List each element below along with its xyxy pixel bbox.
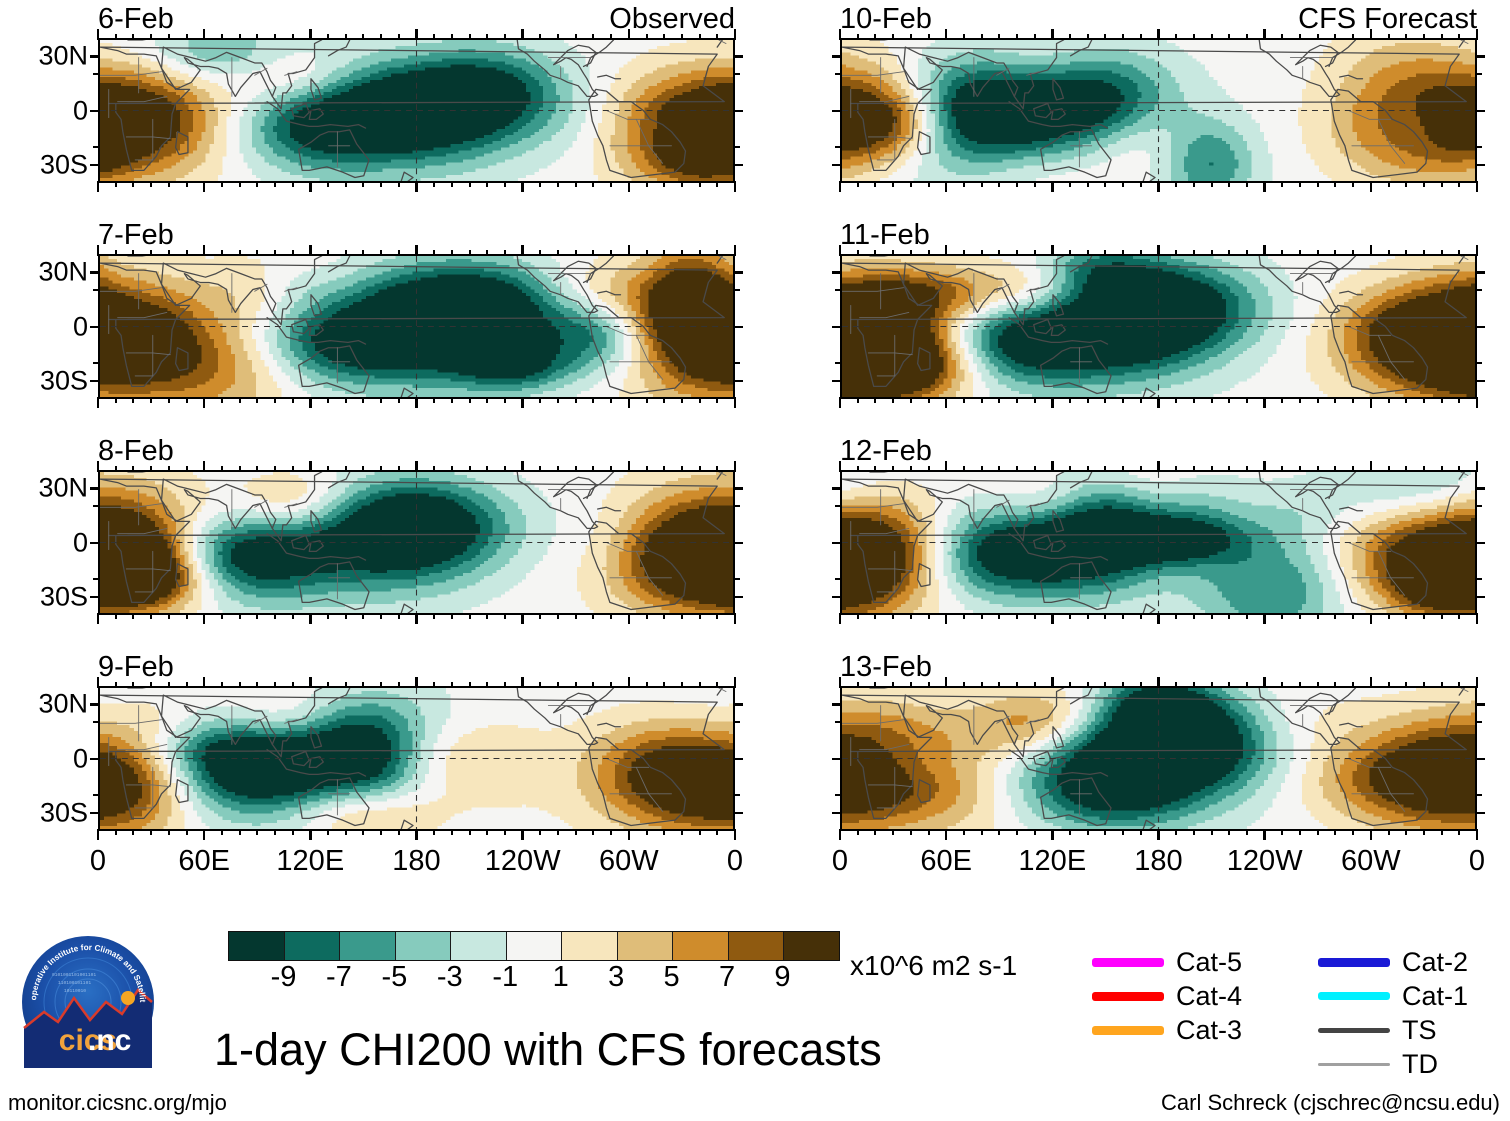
x-tick bbox=[716, 181, 718, 187]
x-tick bbox=[327, 466, 329, 472]
y-tick-minor bbox=[734, 73, 740, 75]
x-tick bbox=[256, 466, 258, 472]
y-tick bbox=[733, 703, 743, 706]
x-tick bbox=[874, 613, 876, 619]
x-tick bbox=[1281, 682, 1283, 688]
x-tick bbox=[362, 397, 364, 403]
x-tick bbox=[892, 613, 894, 619]
x-tick bbox=[945, 29, 948, 40]
x-tick bbox=[345, 829, 347, 835]
x-tick bbox=[97, 29, 100, 40]
legend-item-label: Cat-5 bbox=[1176, 948, 1242, 976]
x-tick bbox=[415, 613, 418, 624]
x-tick bbox=[1388, 250, 1390, 256]
map-panel: 11-Feb bbox=[840, 254, 1477, 399]
x-tick bbox=[1458, 829, 1460, 835]
x-tick bbox=[415, 245, 418, 256]
x-tick bbox=[132, 34, 134, 40]
y-tick-minor bbox=[93, 721, 99, 723]
x-tick bbox=[345, 397, 347, 403]
x-tick bbox=[362, 466, 364, 472]
x-tick bbox=[1476, 613, 1479, 624]
x-tick bbox=[1246, 34, 1248, 40]
x-tick bbox=[1370, 397, 1373, 408]
x-tick bbox=[150, 250, 152, 256]
x-tick bbox=[186, 613, 188, 619]
x-tick bbox=[1051, 461, 1054, 472]
x-tick bbox=[398, 181, 400, 187]
x-tick bbox=[433, 682, 435, 688]
y-tick-minor bbox=[93, 289, 99, 291]
x-tick bbox=[1476, 677, 1479, 688]
x-tick bbox=[1157, 29, 1160, 40]
x-tick bbox=[132, 250, 134, 256]
x-tick bbox=[150, 466, 152, 472]
x-tick bbox=[1281, 613, 1283, 619]
x-tick bbox=[892, 829, 894, 835]
x-tick bbox=[239, 397, 241, 403]
x-tick bbox=[1476, 181, 1479, 192]
colorbar-tick: 1 bbox=[553, 961, 569, 994]
legend-item-label: TD bbox=[1402, 1050, 1438, 1078]
x-tick bbox=[1281, 34, 1283, 40]
x-tick bbox=[469, 829, 471, 835]
x-tick bbox=[168, 613, 170, 619]
x-tick bbox=[1458, 250, 1460, 256]
x-tick bbox=[186, 181, 188, 187]
x-tick bbox=[186, 829, 188, 835]
y-tick bbox=[832, 326, 842, 329]
y-tick bbox=[1475, 758, 1485, 761]
x-tick bbox=[239, 181, 241, 187]
x-tick bbox=[168, 682, 170, 688]
x-tick bbox=[646, 181, 648, 187]
x-tick bbox=[486, 397, 488, 403]
x-tick bbox=[628, 461, 631, 472]
x-tick bbox=[1228, 181, 1230, 187]
x-tick bbox=[1175, 682, 1177, 688]
x-tick bbox=[521, 397, 524, 408]
x-tick bbox=[1175, 34, 1177, 40]
y-tick bbox=[90, 326, 100, 329]
x-tick bbox=[681, 250, 683, 256]
x-tick bbox=[1175, 250, 1177, 256]
x-tick bbox=[945, 613, 948, 624]
y-tick-minor bbox=[835, 578, 841, 580]
x-tick bbox=[362, 829, 364, 835]
x-tick bbox=[168, 397, 170, 403]
x-tick bbox=[292, 181, 294, 187]
x-tick bbox=[1016, 829, 1018, 835]
x-tick bbox=[681, 181, 683, 187]
x-tick bbox=[1405, 613, 1407, 619]
map-panel: 12-Feb bbox=[840, 470, 1477, 615]
x-tick bbox=[1299, 466, 1301, 472]
x-tick bbox=[910, 682, 912, 688]
x-tick bbox=[1317, 682, 1319, 688]
y-tick bbox=[733, 380, 743, 383]
x-tick bbox=[274, 181, 276, 187]
x-tick bbox=[981, 181, 983, 187]
x-tick bbox=[716, 682, 718, 688]
x-tick bbox=[486, 34, 488, 40]
x-tick bbox=[1317, 397, 1319, 403]
x-tick bbox=[1423, 250, 1425, 256]
x-tick bbox=[1281, 466, 1283, 472]
x-tick bbox=[1211, 613, 1213, 619]
y-tick-minor bbox=[734, 289, 740, 291]
x-tick bbox=[646, 613, 648, 619]
x-tick bbox=[1140, 829, 1142, 835]
y-tick bbox=[90, 542, 100, 545]
y-tick bbox=[1475, 380, 1485, 383]
x-tick bbox=[451, 397, 453, 403]
x-tick bbox=[521, 461, 524, 472]
x-tick bbox=[699, 250, 701, 256]
x-tick bbox=[1211, 34, 1213, 40]
x-tick bbox=[1104, 250, 1106, 256]
y-axis-label: 30S bbox=[40, 581, 88, 612]
x-tick bbox=[150, 682, 152, 688]
panel-date-label: 6-Feb bbox=[98, 4, 174, 34]
x-tick bbox=[1193, 34, 1195, 40]
legend-color-swatch bbox=[1092, 1026, 1164, 1035]
x-tick bbox=[716, 34, 718, 40]
x-tick bbox=[1388, 34, 1390, 40]
x-tick bbox=[504, 250, 506, 256]
x-tick bbox=[1104, 466, 1106, 472]
x-tick bbox=[239, 613, 241, 619]
x-tick bbox=[1352, 613, 1354, 619]
x-tick bbox=[1458, 682, 1460, 688]
x-tick bbox=[1193, 397, 1195, 403]
y-tick bbox=[1475, 703, 1485, 706]
panel-source-label: CFS Forecast bbox=[1298, 4, 1477, 34]
x-tick bbox=[1122, 829, 1124, 835]
x-tick bbox=[1157, 397, 1160, 408]
x-tick bbox=[1087, 829, 1089, 835]
colorbar-band bbox=[451, 932, 507, 960]
x-tick bbox=[292, 250, 294, 256]
x-tick bbox=[628, 397, 631, 408]
y-axis-label: 0 bbox=[73, 743, 88, 774]
colorbar-band bbox=[340, 932, 396, 960]
y-tick-minor bbox=[93, 362, 99, 364]
x-tick bbox=[521, 245, 524, 256]
x-tick bbox=[1069, 829, 1071, 835]
x-tick bbox=[892, 682, 894, 688]
x-tick bbox=[699, 397, 701, 403]
x-tick bbox=[998, 397, 1000, 403]
x-tick bbox=[734, 677, 737, 688]
x-tick bbox=[97, 397, 100, 408]
x-tick bbox=[469, 397, 471, 403]
x-tick bbox=[910, 466, 912, 472]
x-tick bbox=[1405, 397, 1407, 403]
x-tick bbox=[1458, 34, 1460, 40]
x-tick bbox=[839, 677, 842, 688]
x-tick bbox=[1175, 613, 1177, 619]
x-tick bbox=[1051, 829, 1054, 840]
x-tick bbox=[1246, 250, 1248, 256]
x-tick bbox=[327, 250, 329, 256]
x-tick bbox=[1175, 829, 1177, 835]
x-tick bbox=[1441, 397, 1443, 403]
x-tick bbox=[981, 250, 983, 256]
y-tick-minor bbox=[93, 73, 99, 75]
x-tick bbox=[150, 613, 152, 619]
x-tick bbox=[1122, 397, 1124, 403]
x-tick bbox=[186, 34, 188, 40]
x-tick bbox=[1122, 613, 1124, 619]
x-tick bbox=[910, 34, 912, 40]
x-tick bbox=[928, 682, 930, 688]
y-tick-minor bbox=[1476, 578, 1482, 580]
x-tick bbox=[1228, 34, 1230, 40]
x-tick bbox=[309, 181, 312, 192]
x-tick bbox=[1423, 34, 1425, 40]
legend-item-label: Cat-3 bbox=[1176, 1016, 1242, 1044]
y-tick bbox=[733, 812, 743, 815]
x-tick bbox=[874, 397, 876, 403]
x-tick bbox=[699, 682, 701, 688]
colorbar-band bbox=[673, 932, 729, 960]
x-tick bbox=[239, 250, 241, 256]
x-tick bbox=[1370, 829, 1373, 840]
x-tick bbox=[1034, 829, 1036, 835]
map-frame bbox=[840, 470, 1477, 615]
x-tick bbox=[132, 613, 134, 619]
x-tick bbox=[1104, 397, 1106, 403]
x-axis-left: 060E120E180120W60W0 bbox=[98, 845, 735, 885]
x-tick bbox=[1476, 29, 1479, 40]
panel-date-label: 9-Feb bbox=[98, 652, 174, 682]
x-tick bbox=[486, 613, 488, 619]
x-tick bbox=[1263, 829, 1266, 840]
x-tick bbox=[1104, 613, 1106, 619]
x-tick bbox=[1388, 682, 1390, 688]
colorbar-tick: -1 bbox=[492, 961, 518, 994]
x-tick bbox=[892, 34, 894, 40]
x-tick bbox=[203, 829, 206, 840]
y-tick bbox=[733, 596, 743, 599]
x-tick bbox=[274, 250, 276, 256]
x-tick bbox=[716, 466, 718, 472]
x-tick bbox=[451, 466, 453, 472]
x-tick bbox=[274, 682, 276, 688]
colorbar-band bbox=[507, 932, 563, 960]
x-tick bbox=[1175, 466, 1177, 472]
x-tick bbox=[132, 397, 134, 403]
colorbar: -9-7-5-3-113579 bbox=[228, 931, 840, 961]
x-tick bbox=[1317, 466, 1319, 472]
x-tick bbox=[1016, 181, 1018, 187]
x-tick bbox=[1263, 29, 1266, 40]
x-tick bbox=[1263, 613, 1266, 624]
x-tick bbox=[681, 466, 683, 472]
legend-color-swatch bbox=[1318, 992, 1390, 1000]
x-tick bbox=[433, 250, 435, 256]
x-tick bbox=[203, 29, 206, 40]
x-tick bbox=[1034, 181, 1036, 187]
x-tick bbox=[663, 250, 665, 256]
monitor-url[interactable]: monitor.cicsnc.org/mjo bbox=[8, 1090, 227, 1116]
x-tick bbox=[998, 466, 1000, 472]
x-tick bbox=[1051, 397, 1054, 408]
x-tick bbox=[115, 613, 117, 619]
x-tick bbox=[1228, 682, 1230, 688]
x-tick bbox=[1193, 682, 1195, 688]
x-tick bbox=[628, 245, 631, 256]
x-tick bbox=[874, 466, 876, 472]
x-tick bbox=[892, 466, 894, 472]
panel-date-label: 10-Feb bbox=[840, 4, 932, 34]
x-tick bbox=[486, 829, 488, 835]
y-tick bbox=[90, 164, 100, 167]
x-tick bbox=[451, 181, 453, 187]
y-tick bbox=[733, 542, 743, 545]
x-tick bbox=[874, 250, 876, 256]
x-tick bbox=[486, 466, 488, 472]
x-tick bbox=[486, 682, 488, 688]
x-tick bbox=[963, 181, 965, 187]
legend-item-label: Cat-1 bbox=[1402, 982, 1468, 1010]
x-tick bbox=[1016, 466, 1018, 472]
x-tick bbox=[734, 613, 737, 624]
x-tick bbox=[716, 397, 718, 403]
x-tick bbox=[963, 613, 965, 619]
x-tick bbox=[839, 461, 842, 472]
x-tick bbox=[839, 29, 842, 40]
x-tick bbox=[1388, 829, 1390, 835]
x-tick bbox=[1370, 245, 1373, 256]
x-tick bbox=[928, 397, 930, 403]
x-tick bbox=[1299, 250, 1301, 256]
x-tick bbox=[1423, 397, 1425, 403]
panel-date-label: 13-Feb bbox=[840, 652, 932, 682]
x-tick bbox=[539, 181, 541, 187]
x-tick bbox=[910, 829, 912, 835]
x-tick bbox=[1423, 181, 1425, 187]
x-tick bbox=[469, 181, 471, 187]
x-tick bbox=[521, 613, 524, 624]
y-tick-minor bbox=[1476, 505, 1482, 507]
x-tick bbox=[433, 181, 435, 187]
x-tick bbox=[380, 34, 382, 40]
y-tick bbox=[832, 542, 842, 545]
y-axis-label: 30S bbox=[40, 149, 88, 180]
x-tick bbox=[1388, 181, 1390, 187]
x-tick bbox=[521, 677, 524, 688]
x-tick bbox=[1211, 397, 1213, 403]
cics-nc-logo: 0101001101001101 110100101101 10110010 c… bbox=[18, 932, 158, 1072]
x-tick bbox=[839, 829, 842, 840]
x-tick bbox=[928, 829, 930, 835]
x-tick bbox=[203, 181, 206, 192]
x-tick bbox=[963, 829, 965, 835]
map-frame bbox=[98, 470, 735, 615]
x-tick bbox=[663, 34, 665, 40]
x-tick bbox=[1281, 829, 1283, 835]
x-tick bbox=[469, 682, 471, 688]
x-tick bbox=[415, 461, 418, 472]
x-tick bbox=[1299, 181, 1301, 187]
x-tick bbox=[716, 250, 718, 256]
x-tick bbox=[557, 250, 559, 256]
x-tick bbox=[115, 34, 117, 40]
x-tick bbox=[380, 613, 382, 619]
map-panel: 8-Feb30N030S bbox=[98, 470, 735, 615]
x-tick bbox=[1281, 181, 1283, 187]
x-tick bbox=[874, 181, 876, 187]
x-tick bbox=[1087, 250, 1089, 256]
y-tick-minor bbox=[734, 505, 740, 507]
y-axis-label: 30S bbox=[40, 365, 88, 396]
x-tick bbox=[274, 613, 276, 619]
x-tick bbox=[646, 250, 648, 256]
x-tick bbox=[203, 397, 206, 408]
x-tick bbox=[1370, 181, 1373, 192]
colorbar-units-label: x10^6 m2 s-1 bbox=[850, 950, 1017, 982]
y-tick bbox=[1475, 487, 1485, 490]
x-tick bbox=[186, 397, 188, 403]
x-tick bbox=[592, 466, 594, 472]
x-tick bbox=[97, 461, 100, 472]
y-tick-minor bbox=[835, 794, 841, 796]
x-tick bbox=[681, 34, 683, 40]
y-tick bbox=[1475, 164, 1485, 167]
x-tick bbox=[857, 613, 859, 619]
x-tick bbox=[1104, 682, 1106, 688]
x-tick bbox=[239, 34, 241, 40]
x-tick bbox=[415, 181, 418, 192]
x-tick bbox=[1263, 397, 1266, 408]
x-tick bbox=[1051, 29, 1054, 40]
y-tick bbox=[1475, 812, 1485, 815]
x-tick bbox=[115, 181, 117, 187]
x-axis-label: 0 bbox=[832, 845, 848, 878]
panel-date-label: 8-Feb bbox=[98, 436, 174, 466]
x-tick bbox=[309, 245, 312, 256]
y-axis-label: 30N bbox=[38, 689, 88, 720]
x-axis-label: 120W bbox=[485, 845, 561, 878]
x-tick bbox=[274, 34, 276, 40]
x-tick bbox=[1317, 613, 1319, 619]
x-tick bbox=[1211, 466, 1213, 472]
x-tick bbox=[327, 34, 329, 40]
y-tick bbox=[832, 487, 842, 490]
x-tick bbox=[1228, 466, 1230, 472]
y-axis-label: 30S bbox=[40, 797, 88, 828]
x-tick bbox=[610, 613, 612, 619]
x-tick bbox=[398, 34, 400, 40]
y-tick bbox=[832, 110, 842, 113]
x-tick bbox=[1016, 34, 1018, 40]
x-tick bbox=[1317, 34, 1319, 40]
x-tick bbox=[998, 181, 1000, 187]
x-tick bbox=[1016, 397, 1018, 403]
x-tick bbox=[380, 181, 382, 187]
x-tick bbox=[1370, 613, 1373, 624]
x-tick bbox=[1140, 397, 1142, 403]
x-tick bbox=[1122, 466, 1124, 472]
x-tick bbox=[539, 250, 541, 256]
x-tick bbox=[1140, 682, 1142, 688]
x-tick bbox=[1034, 682, 1036, 688]
x-tick bbox=[1228, 250, 1230, 256]
legend-item: Cat-3 bbox=[1092, 1013, 1242, 1047]
x-tick bbox=[1441, 829, 1443, 835]
